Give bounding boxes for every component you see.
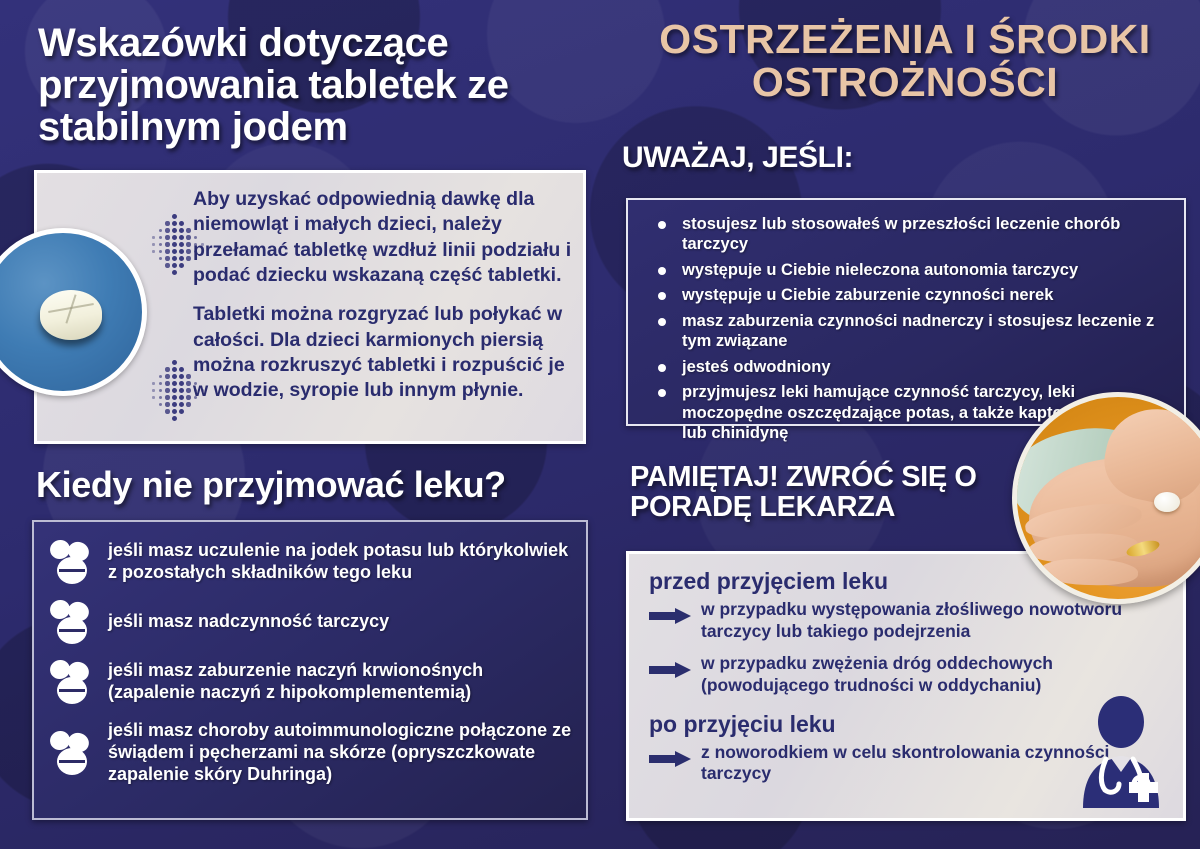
list-item: występuje u Ciebie zaburzenie czynności …	[644, 285, 1172, 305]
list-item: jeśli masz uczulenie na jodek potasu lub…	[48, 540, 572, 584]
list-item: stosujesz lub stosowałeś w przeszłości l…	[644, 214, 1172, 255]
list-item: występuje u Ciebie nieleczona autonomia …	[644, 260, 1172, 280]
arrow-right-icon	[649, 662, 693, 676]
list-item-label: jeśli masz zaburzenie naczyń krwionośnyc…	[108, 660, 572, 704]
doctor-stethoscope-icon	[1073, 696, 1169, 808]
advice-item-label: w przypadku zwężenia dróg oddechowych (p…	[701, 653, 1053, 695]
contraindications-list: jeśli masz uczulenie na jodek potasu lub…	[34, 522, 586, 786]
pills-icon	[48, 731, 94, 775]
list-item: jeśli masz choroby autoimmunologiczne po…	[48, 720, 572, 786]
pills-icon	[48, 540, 94, 584]
advice-item: w przypadku występowania złośliwego nowo…	[649, 599, 1183, 643]
list-item: jeśli masz zaburzenie naczyń krwionośnyc…	[48, 660, 572, 704]
arrow-right-icon	[649, 608, 693, 622]
advice-item-label: z noworodkiem w celu skontrolowania czyn…	[701, 742, 1109, 784]
infographic-poster: Wskazówki dotyczące przyjmowania tablete…	[0, 0, 1200, 849]
remember-heading: PAMIĘTAJ! ZWRÓĆ SIĘ O PORADĘ LEKARZA	[630, 462, 1050, 523]
tips-box: Aby uzyskać odpowiednią dawkę dla niemow…	[34, 170, 586, 444]
pills-icon	[48, 600, 94, 644]
tablet-shape	[40, 290, 102, 340]
tips-paragraph-2: Tabletki można rozgryzać lub połykać w c…	[193, 302, 573, 403]
list-item: jeśli masz nadczynność tarczycy	[48, 600, 572, 644]
warnings-subheading: UWAŻAJ, JEŚLI:	[622, 142, 853, 174]
arrow-right-icon	[649, 751, 693, 765]
list-item: jesteś odwodniony	[644, 357, 1172, 377]
list-item-label: jeśli masz choroby autoimmunologiczne po…	[108, 720, 572, 786]
tips-text: Aby uzyskać odpowiednią dawkę dla niemow…	[193, 187, 573, 418]
left-page-title: Wskazówki dotyczące przyjmowania tablete…	[38, 22, 598, 148]
contraindications-heading: Kiedy nie przyjmować leku?	[36, 466, 506, 504]
list-item-label: jeśli masz uczulenie na jodek potasu lub…	[108, 540, 572, 584]
advice-item: w przypadku zwężenia dróg oddechowych (p…	[649, 653, 1183, 697]
warnings-box: stosujesz lub stosowałeś w przeszłości l…	[626, 198, 1186, 426]
contraindications-box: jeśli masz uczulenie na jodek potasu lub…	[32, 520, 588, 820]
list-item-label: jeśli masz nadczynność tarczycy	[108, 611, 389, 633]
tips-paragraph-1: Aby uzyskać odpowiednią dawkę dla niemow…	[193, 187, 573, 288]
scored-tablet-photo	[0, 228, 147, 396]
pills-icon	[48, 660, 94, 704]
advice-item-label: w przypadku występowania złośliwego nowo…	[701, 599, 1122, 641]
list-item: masz zaburzenia czynności nadnerczy i st…	[644, 311, 1172, 352]
right-page-title: OSTRZEŻENIA I ŚRODKI OSTROŻNOŚCI	[620, 18, 1190, 105]
